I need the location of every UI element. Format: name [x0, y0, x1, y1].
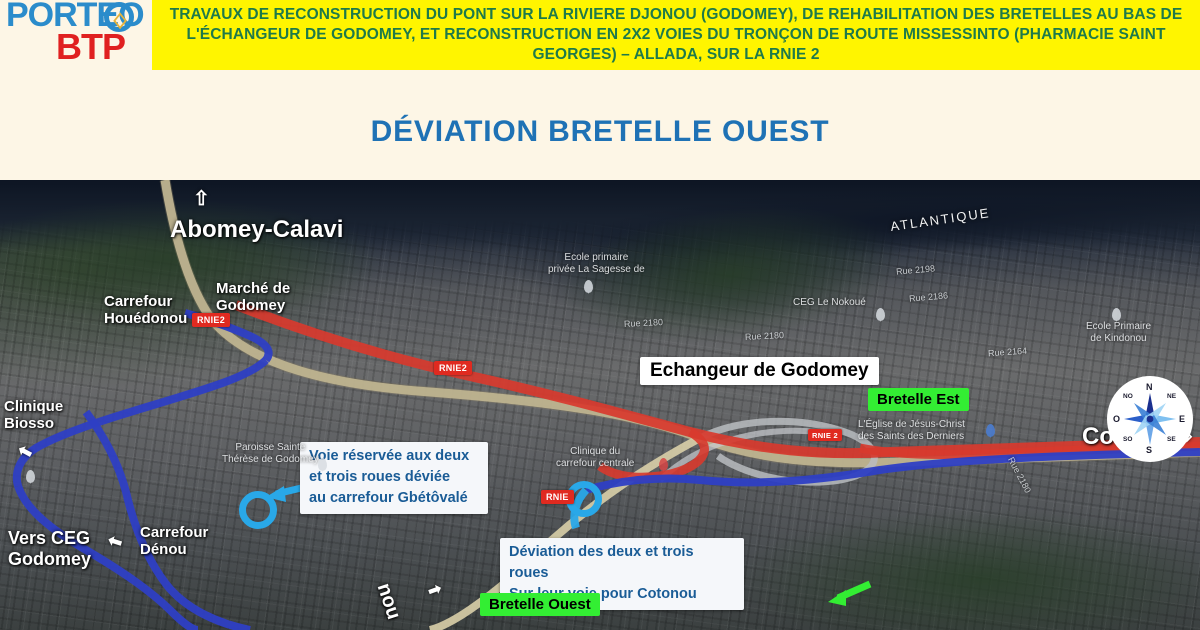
map-pin-icon: [26, 470, 35, 483]
poi-clinique-carrefour-centrale: Clinique du carrefour centrale: [556, 446, 634, 470]
poi-paroisse-sainte-therese: Paroisse Sainte Thérèse de Godomey: [222, 442, 319, 466]
compass-label-e: E: [1179, 414, 1185, 424]
arrow-up-icon: ⇧: [193, 186, 210, 211]
map-canvas[interactable]: Abomey-Calavi ⇧ Cotonou ⇨ Carrefour Houé…: [0, 180, 1200, 630]
poi-ecole-primaire-la-sagesse: Ecole primaire privée La Sagesse de: [548, 252, 645, 276]
map-pin-icon: [318, 458, 327, 471]
map-pin-icon: [1112, 308, 1121, 321]
title-strip: DÉVIATION BRETELLE OUEST: [0, 70, 1200, 180]
compass-label-so: SO: [1123, 436, 1132, 443]
poi-ceg-le-nokoue: CEG Le Nokoué: [793, 297, 866, 309]
header-bar: PORTEO ⬦ BTP TRAVAUX DE RECONSTRUCTION D…: [0, 0, 1200, 70]
porteo-btp-logo: PORTEO ⬦ BTP: [0, 0, 152, 70]
poi-eglise-jesus-christ: L'Église de Jésus-Christ des Saints des …: [858, 419, 965, 443]
road-badge-rnie2: RNIE2: [434, 361, 472, 375]
place-label-carrefour-denou: Carrefour Dénou: [140, 524, 208, 559]
marker-circle-godomey: [239, 491, 277, 529]
compass-label-n: N: [1146, 382, 1153, 392]
project-banner-text: TRAVAUX DE RECONSTRUCTION DU PONT SUR LA…: [160, 5, 1192, 64]
road-badge-rnie: RNIE: [541, 490, 574, 504]
place-label-marche-de-godomey: Marché de Godomey: [216, 280, 290, 315]
highlight-bretelle-ouest: Bretelle Ouest: [480, 593, 600, 616]
map-pin-hospital-icon: [659, 458, 668, 471]
poi-ecole-primaire-kindonou: Ecole Primaire de Kindonou: [1086, 321, 1151, 345]
street-label: Rue 2180: [624, 317, 664, 329]
compass-label-no: NO: [1123, 393, 1133, 400]
bretelle-est-arrowhead: [828, 590, 846, 606]
compass-label-s: S: [1146, 445, 1152, 455]
place-label-vers-ceg-godomey: Vers CEG Godomey: [8, 528, 91, 569]
place-label-carrefour-houedonou: Carrefour Houédonou: [104, 293, 187, 328]
city-label-abomey-calavi: Abomey-Calavi: [170, 216, 343, 244]
road-badge-rnie2: RNIE2: [192, 313, 230, 327]
project-banner: TRAVAUX DE RECONSTRUCTION DU PONT SUR LA…: [152, 0, 1200, 70]
callout-line: Déviation des deux et trois roues: [509, 542, 735, 584]
highlight-bretelle-est: Bretelle Est: [868, 388, 969, 411]
compass-label-ne: NE: [1167, 393, 1176, 400]
compass-rose-icon: N S E O NE NO SE SO: [1107, 376, 1193, 462]
callout-line: Voie réservée aux deux: [309, 446, 479, 467]
callout-voie-reservee: Voie réservée aux deux et trois roues dé…: [300, 442, 488, 514]
place-label-clinique-biosso: Clinique Biosso: [4, 398, 63, 433]
logo-btp-text: BTP: [56, 26, 125, 68]
map-pin-icon: [876, 308, 885, 321]
street-label: Rue 2180: [745, 330, 785, 342]
poster-root: PORTEO ⬦ BTP TRAVAUX DE RECONSTRUCTION D…: [0, 0, 1200, 630]
map-pin-icon: [584, 280, 593, 293]
map-pin-church-icon: [986, 424, 995, 437]
label-echangeur-de-godomey: Echangeur de Godomey: [640, 357, 879, 385]
compass-label-o: O: [1113, 414, 1120, 424]
road-badge-rnie2-east: RNIE 2: [808, 429, 842, 441]
page-title: DÉVIATION BRETELLE OUEST: [371, 115, 830, 149]
compass-label-se: SE: [1167, 436, 1176, 443]
callout-line: au carrefour Gbétôvalé: [309, 488, 479, 509]
callout-line: et trois roues déviée: [309, 467, 479, 488]
